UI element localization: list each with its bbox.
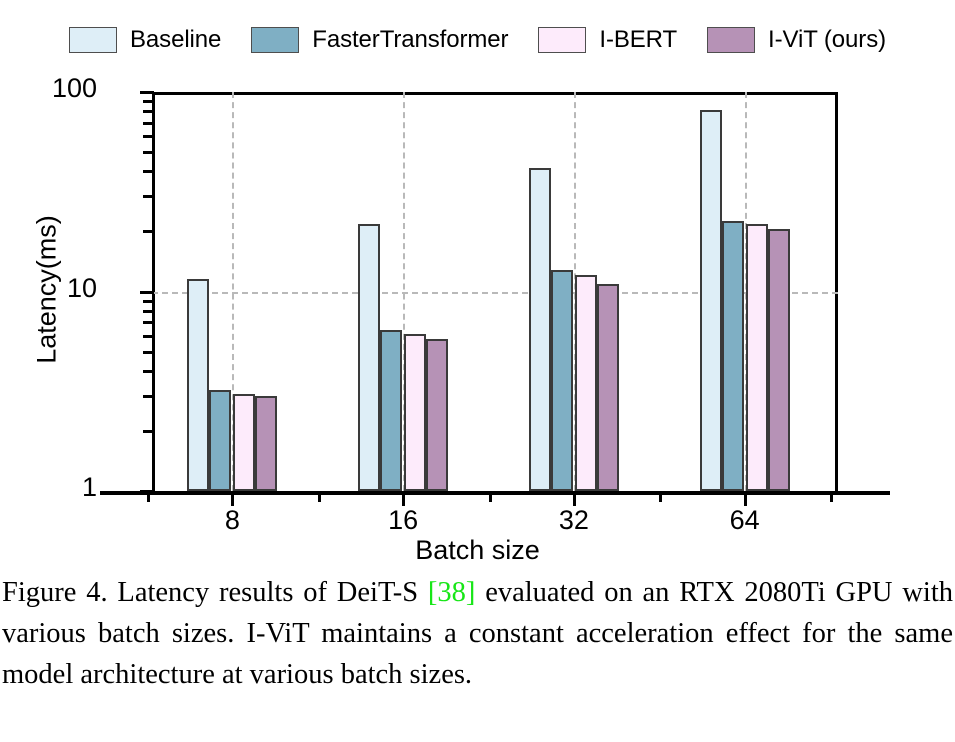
figure-latency-chart: Baseline FasterTransformer I-BERT I-ViT …	[0, 0, 955, 568]
legend-item-ivit: I-ViT (ours)	[707, 26, 886, 54]
y-tick-minor-40	[143, 170, 154, 173]
y-tick-minor-50	[143, 151, 154, 154]
x-tick-minor-1	[489, 492, 492, 502]
y-tick-minor-80	[143, 110, 154, 113]
x-axis-title: Batch size	[0, 535, 955, 566]
x-tick-minor-pre	[147, 492, 150, 502]
y-tick-minor-2	[143, 430, 154, 433]
x-tick-minor-3	[830, 492, 833, 502]
legend-swatch-ibert	[538, 27, 586, 53]
bar-16-i-vit-ours-	[426, 339, 448, 491]
legend-label-baseline: Baseline	[130, 26, 221, 54]
x-tick-label-16: 16	[388, 505, 418, 536]
bar-8-fastertransformer	[209, 390, 231, 491]
y-tick-minor-60	[143, 135, 154, 138]
y-tick-minor-8	[143, 310, 154, 313]
bar-32-baseline	[529, 168, 551, 491]
legend-swatch-ivit	[707, 27, 755, 53]
y-tick-minor-3	[143, 395, 154, 398]
bar-8-baseline	[187, 279, 209, 491]
bar-16-fastertransformer	[380, 330, 402, 491]
bar-64-i-vit-ours-	[768, 229, 790, 491]
y-tick-major-100	[140, 91, 154, 94]
y-axis-title: Latency(ms)	[32, 180, 63, 400]
caption-citation: [38]	[428, 577, 475, 608]
x-tick-major-32	[573, 492, 576, 506]
y-tick-minor-20	[143, 230, 154, 233]
x-tick-minor-0	[318, 492, 321, 502]
caption-part1: Figure 4. Latency results of DeiT-S	[2, 577, 428, 608]
x-tick-label-64: 64	[730, 505, 760, 536]
legend-swatch-fastertransformer	[251, 27, 299, 53]
figure-caption: Figure 4. Latency results of DeiT-S [38]…	[2, 572, 953, 695]
y-tick-major-10	[140, 291, 154, 294]
x-tick-minor-2	[659, 492, 662, 502]
chart-legend: Baseline FasterTransformer I-BERT I-ViT …	[0, 18, 955, 62]
bar-8-i-bert	[233, 394, 255, 491]
legend-label-fastertransformer: FasterTransformer	[312, 26, 508, 54]
x-tick-major-8	[231, 492, 234, 506]
y-tick-minor-30	[143, 195, 154, 198]
bar-16-baseline	[358, 224, 380, 491]
y-tick-minor-4	[143, 370, 154, 373]
bar-32-i-vit-ours-	[597, 284, 619, 491]
bar-64-i-bert	[746, 224, 768, 491]
y-tick-label-10: 10	[67, 273, 97, 304]
bar-64-baseline	[700, 110, 722, 491]
y-tick-minor-9	[143, 300, 154, 303]
legend-label-ivit: I-ViT (ours)	[768, 26, 886, 54]
y-tick-minor-6	[143, 335, 154, 338]
plot-frame-top	[152, 92, 838, 95]
bar-64-fastertransformer	[722, 221, 744, 491]
y-tick-minor-90	[143, 100, 154, 103]
x-tick-major-64	[744, 492, 747, 506]
x-tick-major-16	[402, 492, 405, 506]
bar-32-fastertransformer	[551, 270, 573, 491]
legend-swatch-baseline	[69, 27, 117, 53]
bar-8-i-vit-ours-	[255, 396, 277, 491]
y-tick-minor-70	[143, 122, 154, 125]
legend-item-ibert: I-BERT	[538, 26, 677, 54]
y-tick-label-1: 1	[82, 472, 97, 503]
legend-item-fastertransformer: FasterTransformer	[251, 26, 508, 54]
legend-item-baseline: Baseline	[69, 26, 221, 54]
legend-label-ibert: I-BERT	[599, 26, 677, 54]
x-tick-label-32: 32	[559, 505, 589, 536]
y-tick-minor-7	[143, 321, 154, 324]
x-tick-label-8: 8	[225, 505, 240, 536]
bar-32-i-bert	[575, 275, 597, 491]
y-tick-label-100: 100	[52, 73, 97, 104]
bar-16-i-bert	[404, 334, 426, 491]
y-tick-minor-5	[143, 351, 154, 354]
x-axis-line	[100, 491, 890, 495]
